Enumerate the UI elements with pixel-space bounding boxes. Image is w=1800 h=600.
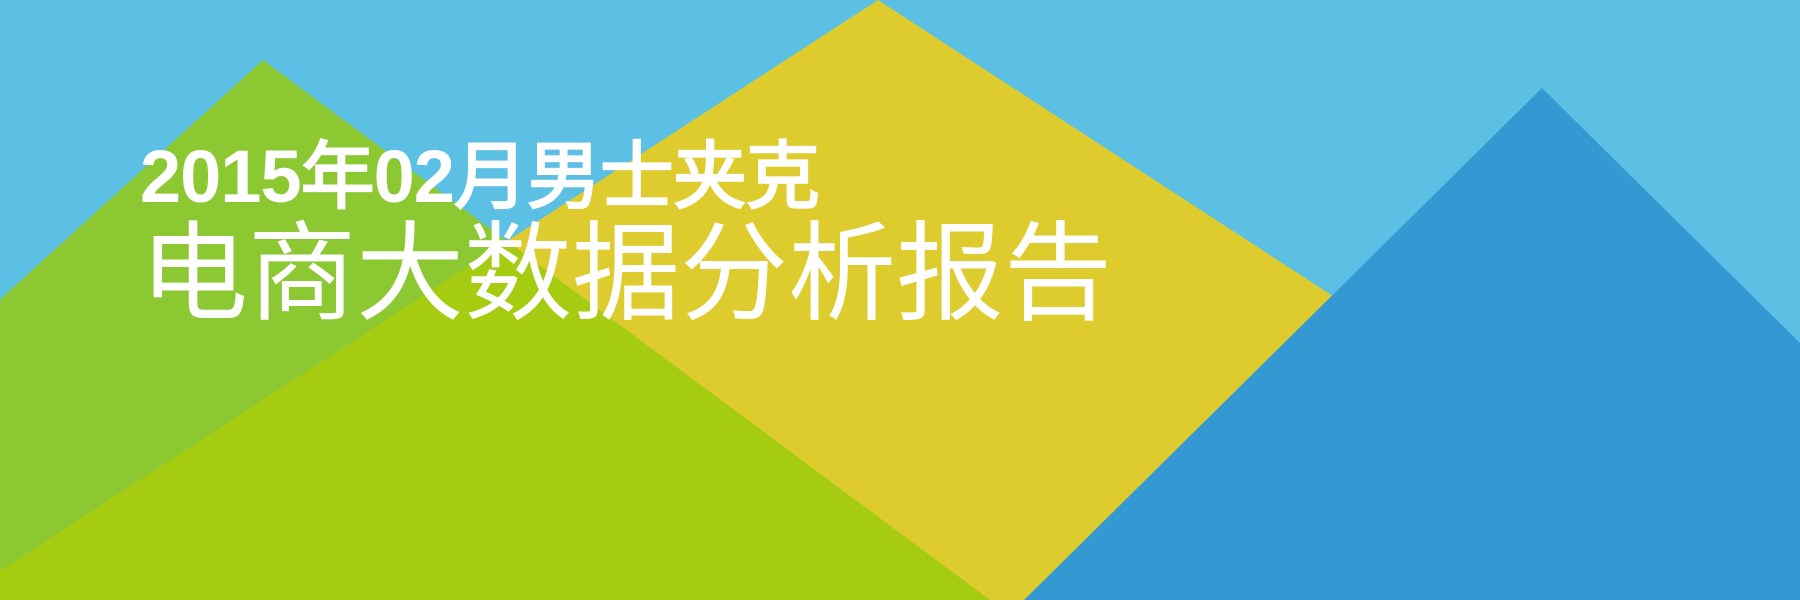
title-block: 2015年02月男士夹克 电商大数据分析报告: [140, 140, 1340, 328]
poster-title-line-1: 2015年02月男士夹克: [140, 140, 1340, 214]
poster-title-line-2: 电商大数据分析报告: [140, 220, 1340, 328]
poster-canvas: 2015年02月男士夹克 电商大数据分析报告: [0, 0, 1800, 600]
